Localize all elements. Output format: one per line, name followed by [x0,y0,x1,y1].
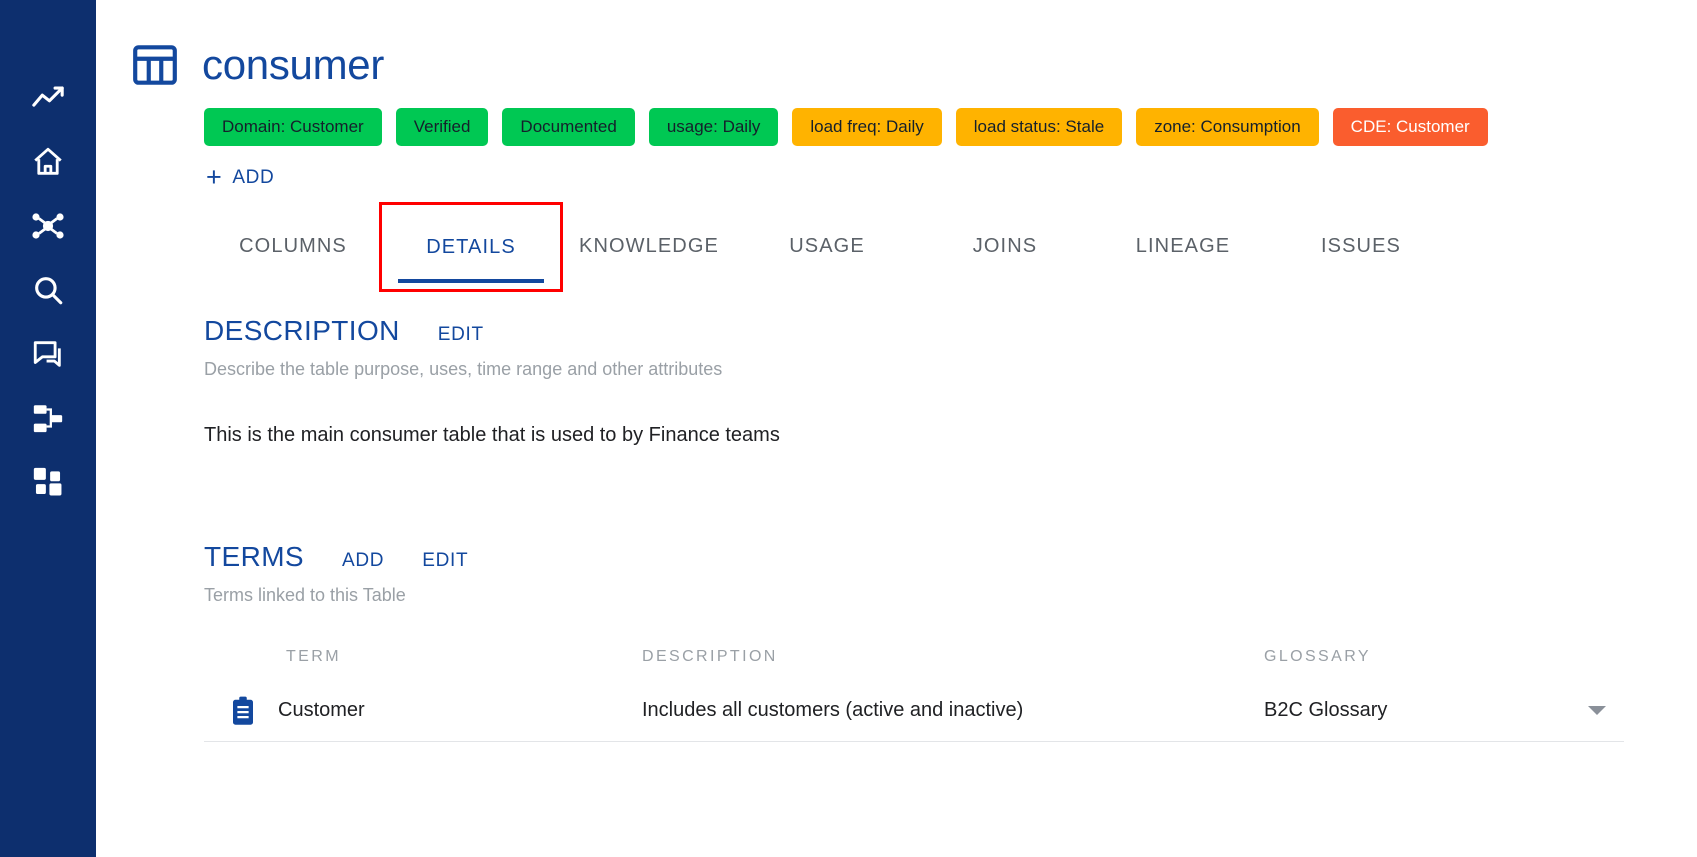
table-row[interactable]: Customer Includes all customers (active … [204,680,1624,742]
tag-domain-customer[interactable]: Domain: Customer [204,108,382,146]
terms-title: TERMS [204,541,304,573]
chat-icon [31,337,65,371]
network-icon [30,208,66,244]
terms-table: TERM DESCRIPTION GLOSSARY [204,634,1624,742]
terms-add-button[interactable]: ADD [342,550,384,572]
terms-table-header: TERM DESCRIPTION GLOSSARY [204,634,1624,680]
add-tag-label: ADD [232,167,274,189]
sidebar-item-analytics[interactable] [20,78,76,118]
chevron-down-icon[interactable] [1588,706,1606,715]
sidebar-item-chat[interactable] [20,334,76,374]
analytics-icon [31,81,65,115]
terms-hint: Terms linked to this Table [204,585,1697,606]
page-header: consumer [96,0,1697,90]
sidebar-item-hierarchy[interactable] [20,398,76,438]
description-section: DESCRIPTION EDIT Describe the table purp… [96,315,1697,447]
tab-knowledge-label: KNOWLEDGE [579,235,719,258]
app-root: consumer Domain: Customer Verified Docum… [0,0,1697,857]
tab-usage[interactable]: USAGE [738,211,916,281]
tab-bar: COLUMNS DETAILS KNOWLEDGE USAGE JOINS LI… [96,211,1697,281]
home-icon [31,145,65,179]
hierarchy-icon [31,401,65,435]
description-hint: Describe the table purpose, uses, time r… [204,359,1697,380]
terms-edit-button[interactable]: EDIT [422,550,468,572]
sidebar-item-search[interactable] [20,270,76,310]
tag-load-freq-daily[interactable]: load freq: Daily [792,108,941,146]
tab-issues[interactable]: ISSUES [1272,211,1450,281]
tag-list: Domain: Customer Verified Documented usa… [96,108,1697,146]
sidebar-item-home[interactable] [20,142,76,182]
description-body: This is the main consumer table that is … [204,424,1697,447]
description-edit-button[interactable]: EDIT [438,324,484,346]
description-header: DESCRIPTION EDIT [204,315,1697,347]
tab-usage-label: USAGE [789,235,865,258]
column-header-description: DESCRIPTION [642,648,778,665]
terms-section: TERMS ADD EDIT Terms linked to this Tabl… [96,541,1697,742]
add-tag-button[interactable]: + ADD [204,160,276,195]
tab-columns-label: COLUMNS [239,235,347,258]
tag-usage-daily[interactable]: usage: Daily [649,108,779,146]
tab-lineage-label: LINEAGE [1136,235,1230,258]
tab-lineage[interactable]: LINEAGE [1094,211,1272,281]
term-description: Includes all customers (active and inact… [642,699,1023,721]
main-content: consumer Domain: Customer Verified Docum… [96,0,1697,857]
tab-details[interactable]: DETAILS [382,205,560,289]
tab-issues-label: ISSUES [1321,235,1401,258]
tab-knowledge[interactable]: KNOWLEDGE [560,211,738,281]
tab-joins-label: JOINS [973,235,1037,258]
tab-columns[interactable]: COLUMNS [204,211,382,281]
page-title: consumer [202,44,384,86]
sidebar-item-network[interactable] [20,206,76,246]
sidebar-item-apps[interactable] [20,462,76,502]
term-glossary: B2C Glossary [1264,699,1387,722]
tag-cde-customer[interactable]: CDE: Customer [1333,108,1488,146]
table-icon [130,40,180,90]
description-title: DESCRIPTION [204,315,400,347]
apps-icon [31,465,65,499]
terms-header: TERMS ADD EDIT [204,541,1697,573]
tag-zone-consumption[interactable]: zone: Consumption [1136,108,1318,146]
add-tag-row: + ADD [96,160,1697,195]
column-header-term: TERM [204,648,341,666]
tag-verified[interactable]: Verified [396,108,489,146]
term-name: Customer [278,699,365,722]
tab-joins[interactable]: JOINS [916,211,1094,281]
sidebar [0,0,96,857]
plus-icon: + [206,164,222,191]
search-icon [31,273,65,307]
column-header-glossary: GLOSSARY [1264,648,1371,666]
tag-load-status-stale[interactable]: load status: Stale [956,108,1122,146]
tab-details-label: DETAILS [426,236,516,259]
clipboard-icon [230,696,256,726]
tag-documented[interactable]: Documented [502,108,634,146]
